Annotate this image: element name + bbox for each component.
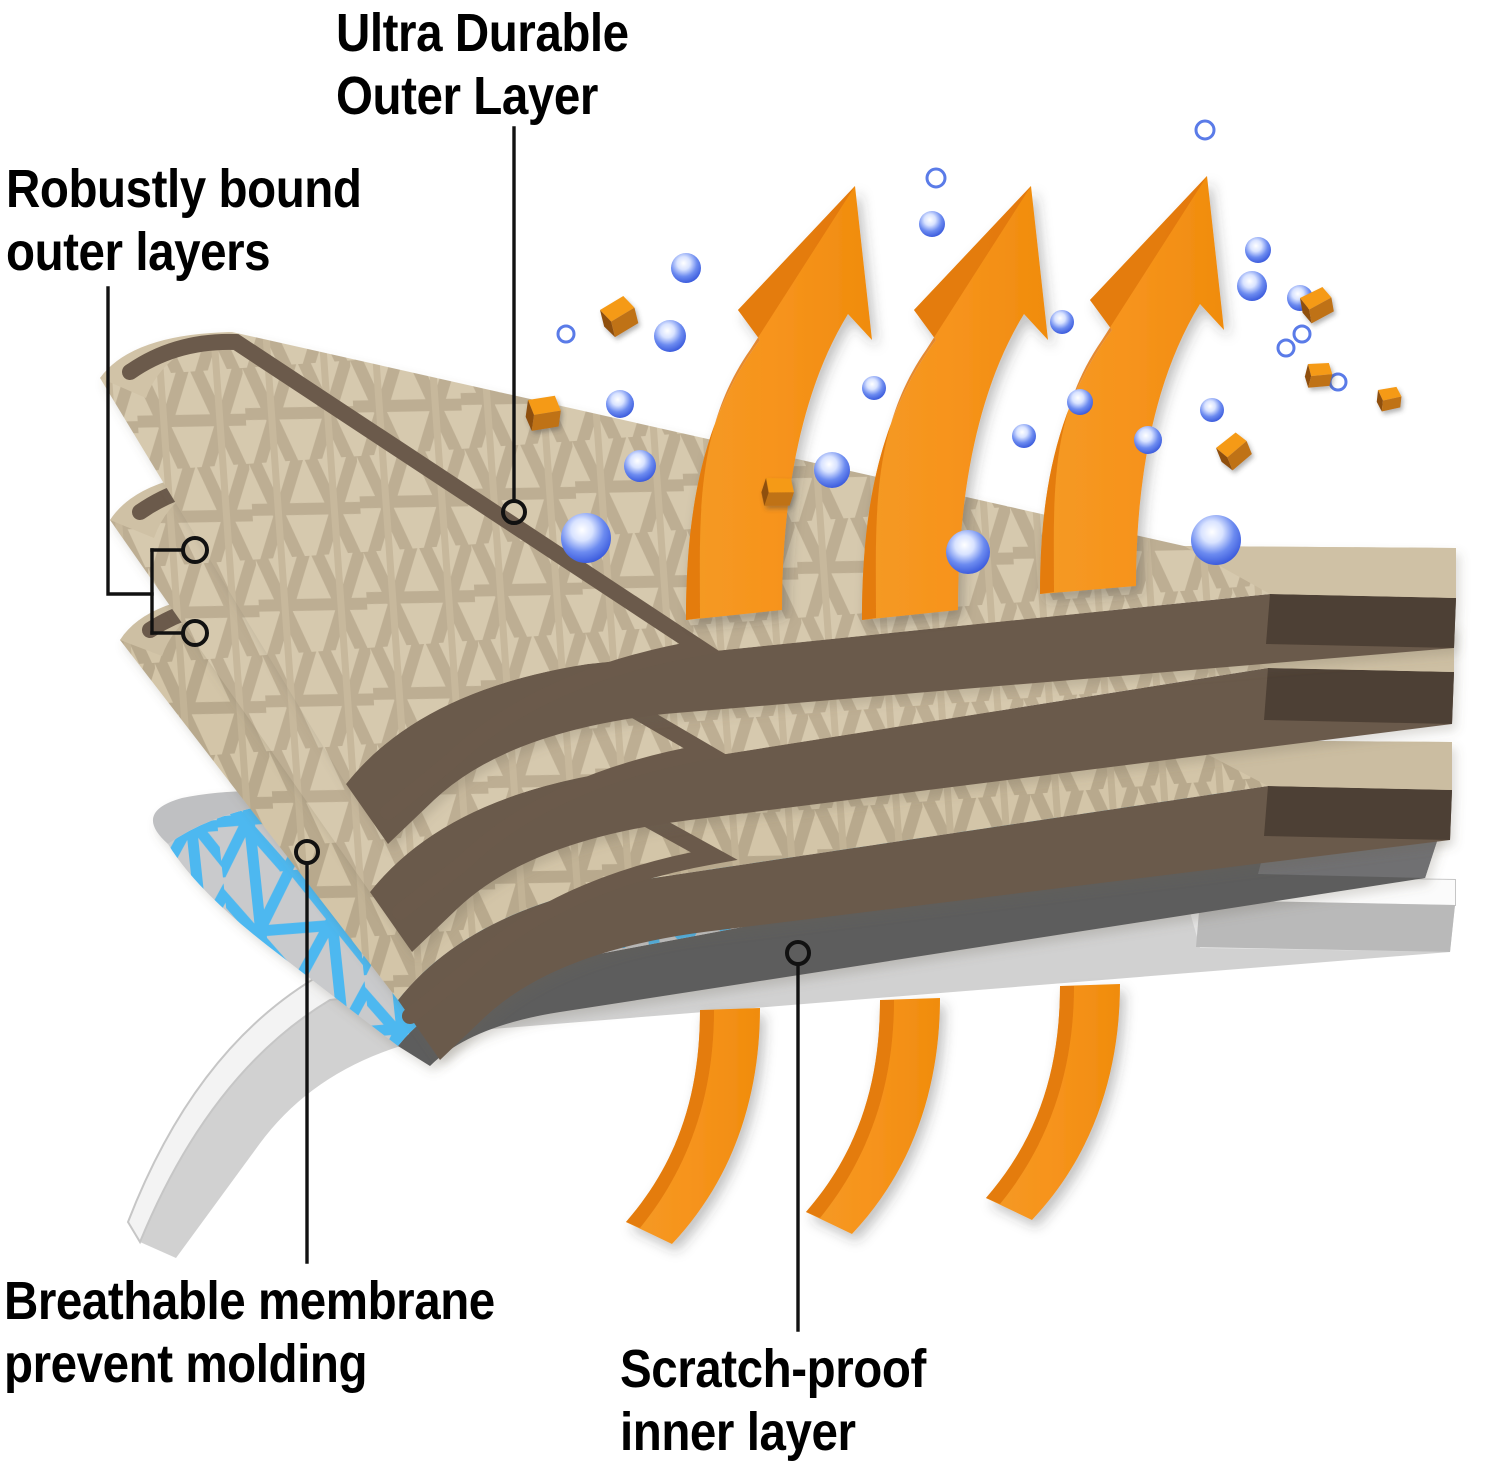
downward-flow-arrows	[626, 984, 1120, 1244]
downward-arrow-1	[626, 1008, 760, 1244]
debris-cube-5	[1302, 358, 1334, 392]
debris-cube-7	[1376, 385, 1403, 413]
layer-stack-illustration	[0, 0, 1500, 1475]
downward-arrow-3	[986, 984, 1120, 1220]
diagram-canvas: Ultra Durable Outer Layer Robustly bound…	[0, 0, 1500, 1475]
debris-cube-1	[598, 294, 640, 339]
debris-cube-6	[1213, 430, 1254, 473]
downward-arrow-2	[806, 998, 940, 1234]
